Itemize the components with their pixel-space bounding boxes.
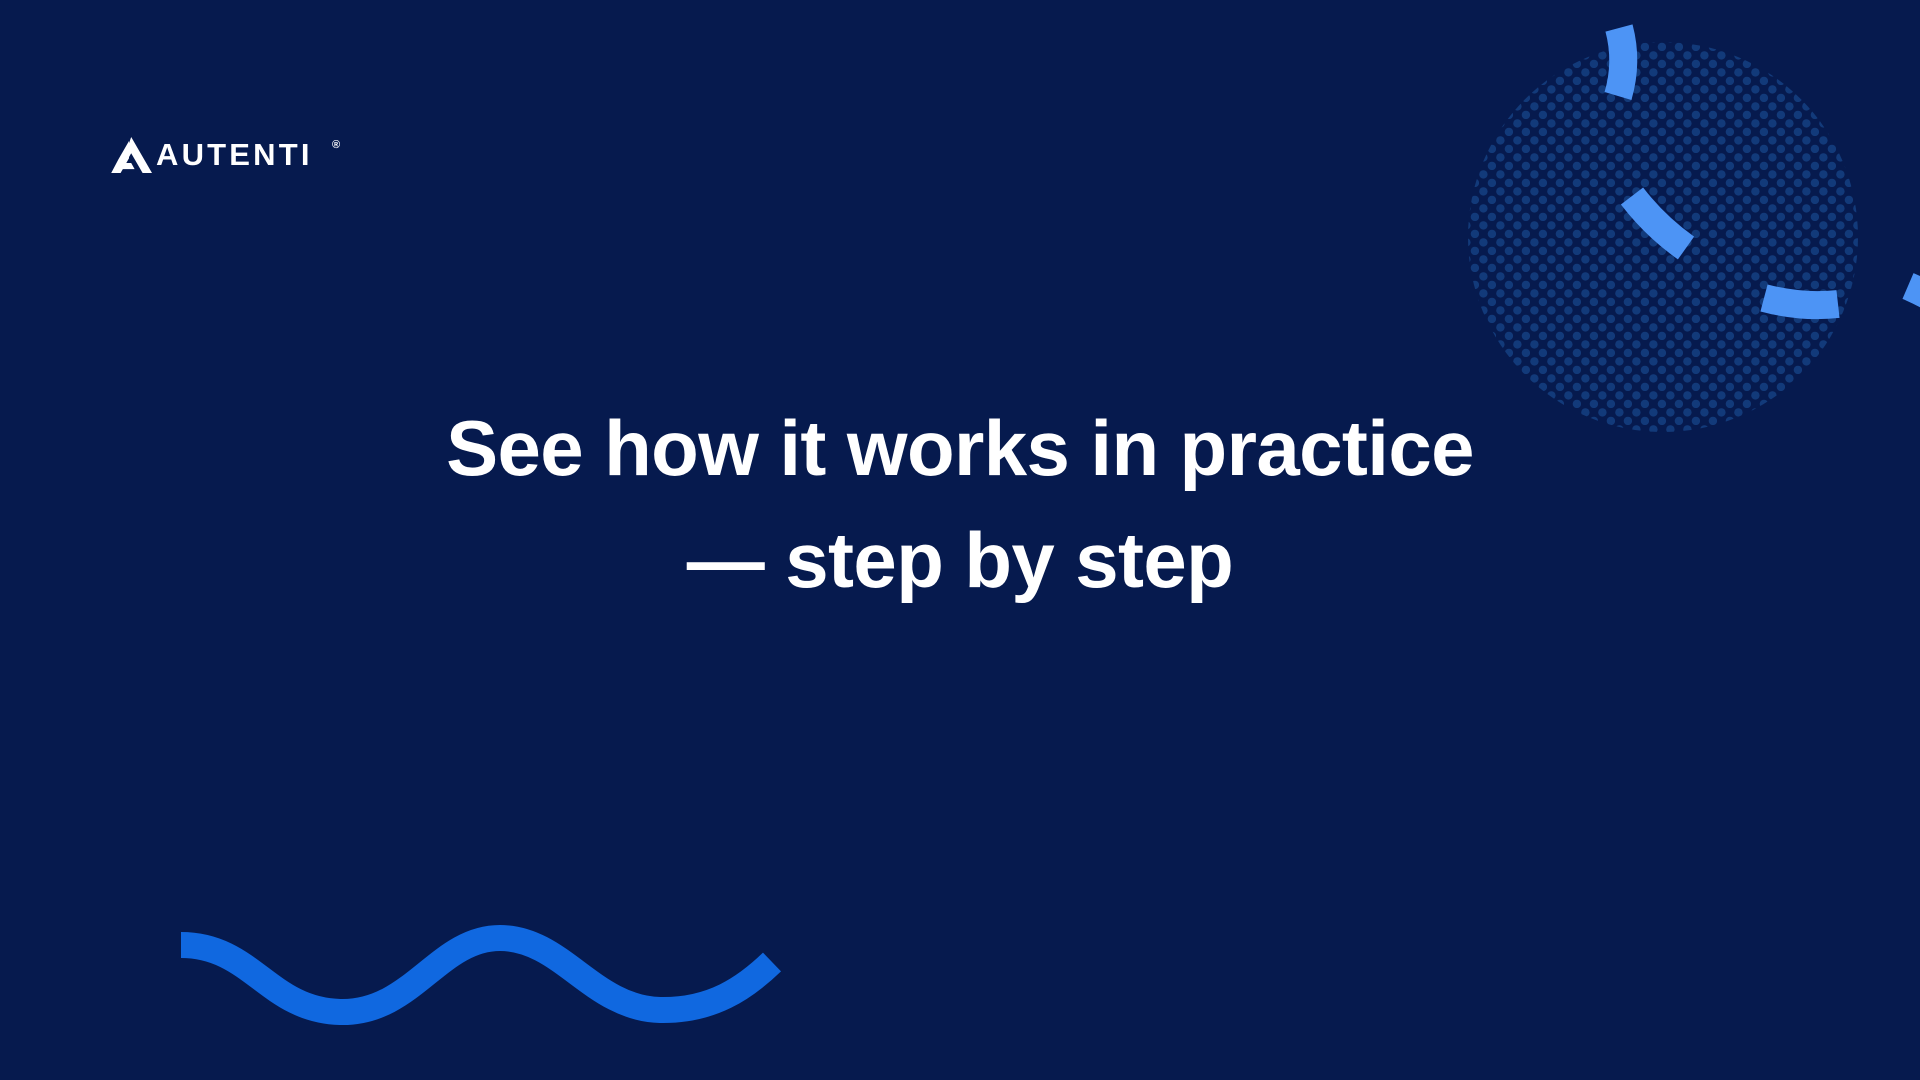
- arc-top-icon: [1618, 28, 1623, 96]
- headline-block: See how it works in practice — step by s…: [0, 392, 1920, 617]
- accent-arc-segments: [1618, 28, 1920, 305]
- page-title: See how it works in practice — step by s…: [0, 392, 1920, 617]
- brand-logo[interactable]: AUTENTI ®: [110, 132, 366, 176]
- registered-trademark-symbol: ®: [332, 139, 340, 151]
- autenti-a-mark-icon: [110, 132, 154, 176]
- arc-right-icon: [1764, 298, 1838, 305]
- arc-middle-icon: [1632, 196, 1686, 248]
- autenti-wordmark-text: AUTENTI: [156, 137, 313, 172]
- sine-wave-icon: [181, 938, 772, 1012]
- slide-canvas: AUTENTI ® See how it works in practice —…: [0, 0, 1920, 1080]
- halftone-dotted-circle-icon: [1468, 42, 1920, 432]
- arc-edge-fragment-icon: [1908, 286, 1920, 300]
- autenti-wordmark-icon: AUTENTI ®: [156, 132, 366, 176]
